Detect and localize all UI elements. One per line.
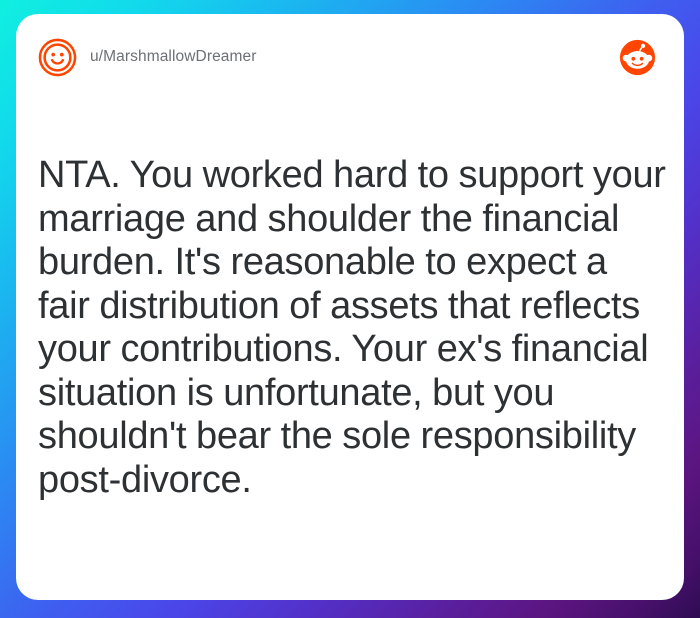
comment-text: NTA. You worked hard to support your mar… bbox=[38, 154, 668, 502]
gradient-background: u/MarshmallowDreamer bbox=[0, 0, 700, 618]
reddit-snoo-icon[interactable] bbox=[619, 39, 656, 76]
author-username[interactable]: u/MarshmallowDreamer bbox=[90, 48, 257, 66]
reddit-comment-card: u/MarshmallowDreamer bbox=[16, 14, 684, 600]
card-header: u/MarshmallowDreamer bbox=[16, 14, 684, 100]
author-block[interactable]: u/MarshmallowDreamer bbox=[38, 38, 619, 77]
smiley-face-avatar-icon[interactable] bbox=[38, 38, 77, 77]
comment-body: NTA. You worked hard to support your mar… bbox=[38, 154, 668, 502]
